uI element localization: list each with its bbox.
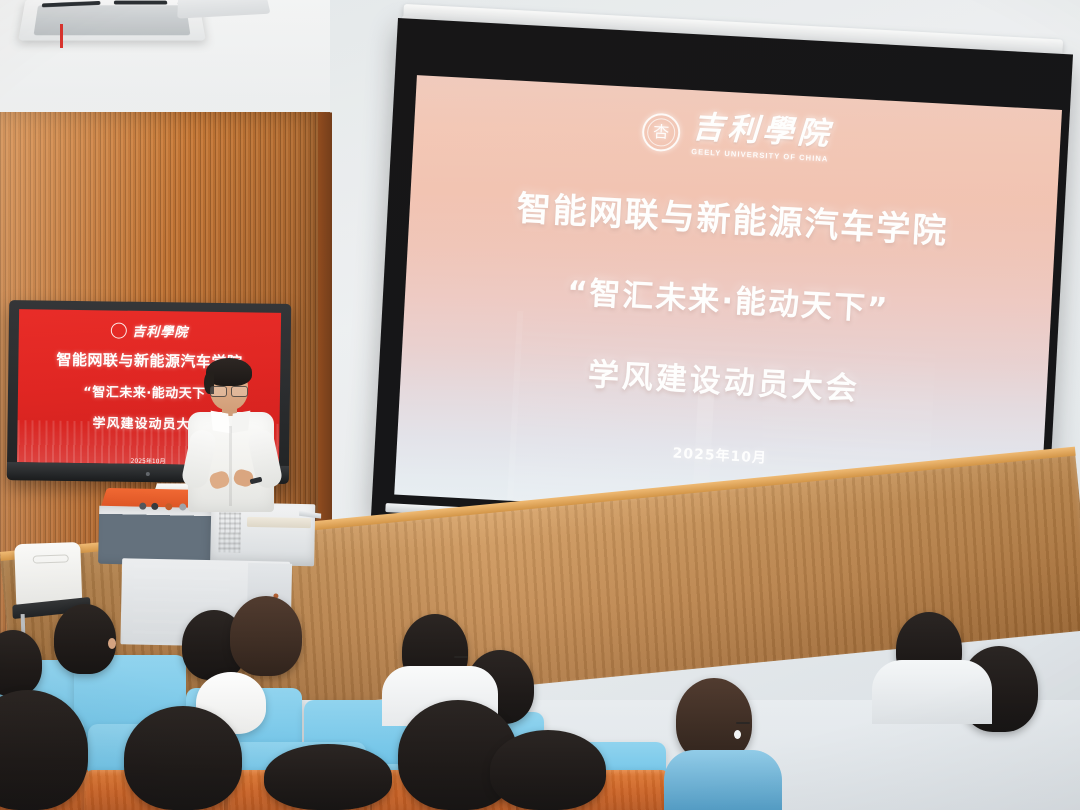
slide-title-line-1: 智能网联与新能源汽车学院 <box>516 181 950 253</box>
audience-head <box>230 596 302 676</box>
audience-member <box>230 596 302 676</box>
audience-member <box>490 730 606 810</box>
audience-ear <box>108 638 116 649</box>
ac-diffuser <box>34 5 191 35</box>
logo-text-block: 吉利學院 GEELY UNIVERSITY OF CHINA <box>691 112 833 164</box>
display-seal-icon <box>111 322 127 338</box>
audience-head <box>264 744 392 810</box>
lectern-speaker-grille <box>218 512 241 552</box>
audience-shoulders <box>872 660 992 724</box>
audience-member <box>264 744 392 810</box>
university-logo: 杏 吉利學院 GEELY UNIVERSITY OF CHINA <box>641 109 833 163</box>
ac-louver <box>114 1 167 5</box>
audience-member <box>54 604 116 674</box>
chair-handle-cutout <box>33 554 69 563</box>
earbud-icon <box>734 730 741 739</box>
presenter-collar-right <box>231 411 251 434</box>
ac-airflow-ribbon <box>60 24 63 48</box>
audience-head <box>54 604 116 674</box>
logo-institution-cn: 吉利學院 <box>692 112 833 151</box>
lectern-knob[interactable] <box>165 503 172 510</box>
audience-member <box>0 630 42 696</box>
lectern-left-module <box>98 506 217 566</box>
audience-member <box>0 690 88 810</box>
display-logo: 吉利學院 <box>111 320 188 340</box>
slide-title-line-2: “智汇未来·能动天下” <box>566 267 890 329</box>
glasses-icon <box>736 722 750 724</box>
lectern-control-strip[interactable] <box>247 517 311 528</box>
audience-head <box>0 690 88 810</box>
presenter <box>180 352 286 512</box>
chair-backrest <box>14 542 82 606</box>
audience-shoulders <box>664 750 782 810</box>
power-led-icon <box>146 472 150 476</box>
audience-head <box>124 706 242 810</box>
glasses-icon <box>210 386 248 395</box>
university-seal-icon: 杏 <box>641 112 681 152</box>
slide-date: 2025年10月 <box>672 443 767 468</box>
audience-head <box>490 730 606 810</box>
seal-character: 杏 <box>653 124 670 141</box>
presenter-shirt-placket <box>229 426 232 506</box>
display-logo-institution-cn: 吉利學院 <box>132 321 188 341</box>
lecture-hall-scene: 杏 吉利學院 GEELY UNIVERSITY OF CHINA 智能网联与新能… <box>0 0 1080 810</box>
presenter-collar-left <box>211 411 231 434</box>
audience-member <box>124 706 242 810</box>
audience-head <box>0 630 42 696</box>
slide-title-line-3: 学风建设动员大会 <box>587 349 861 409</box>
